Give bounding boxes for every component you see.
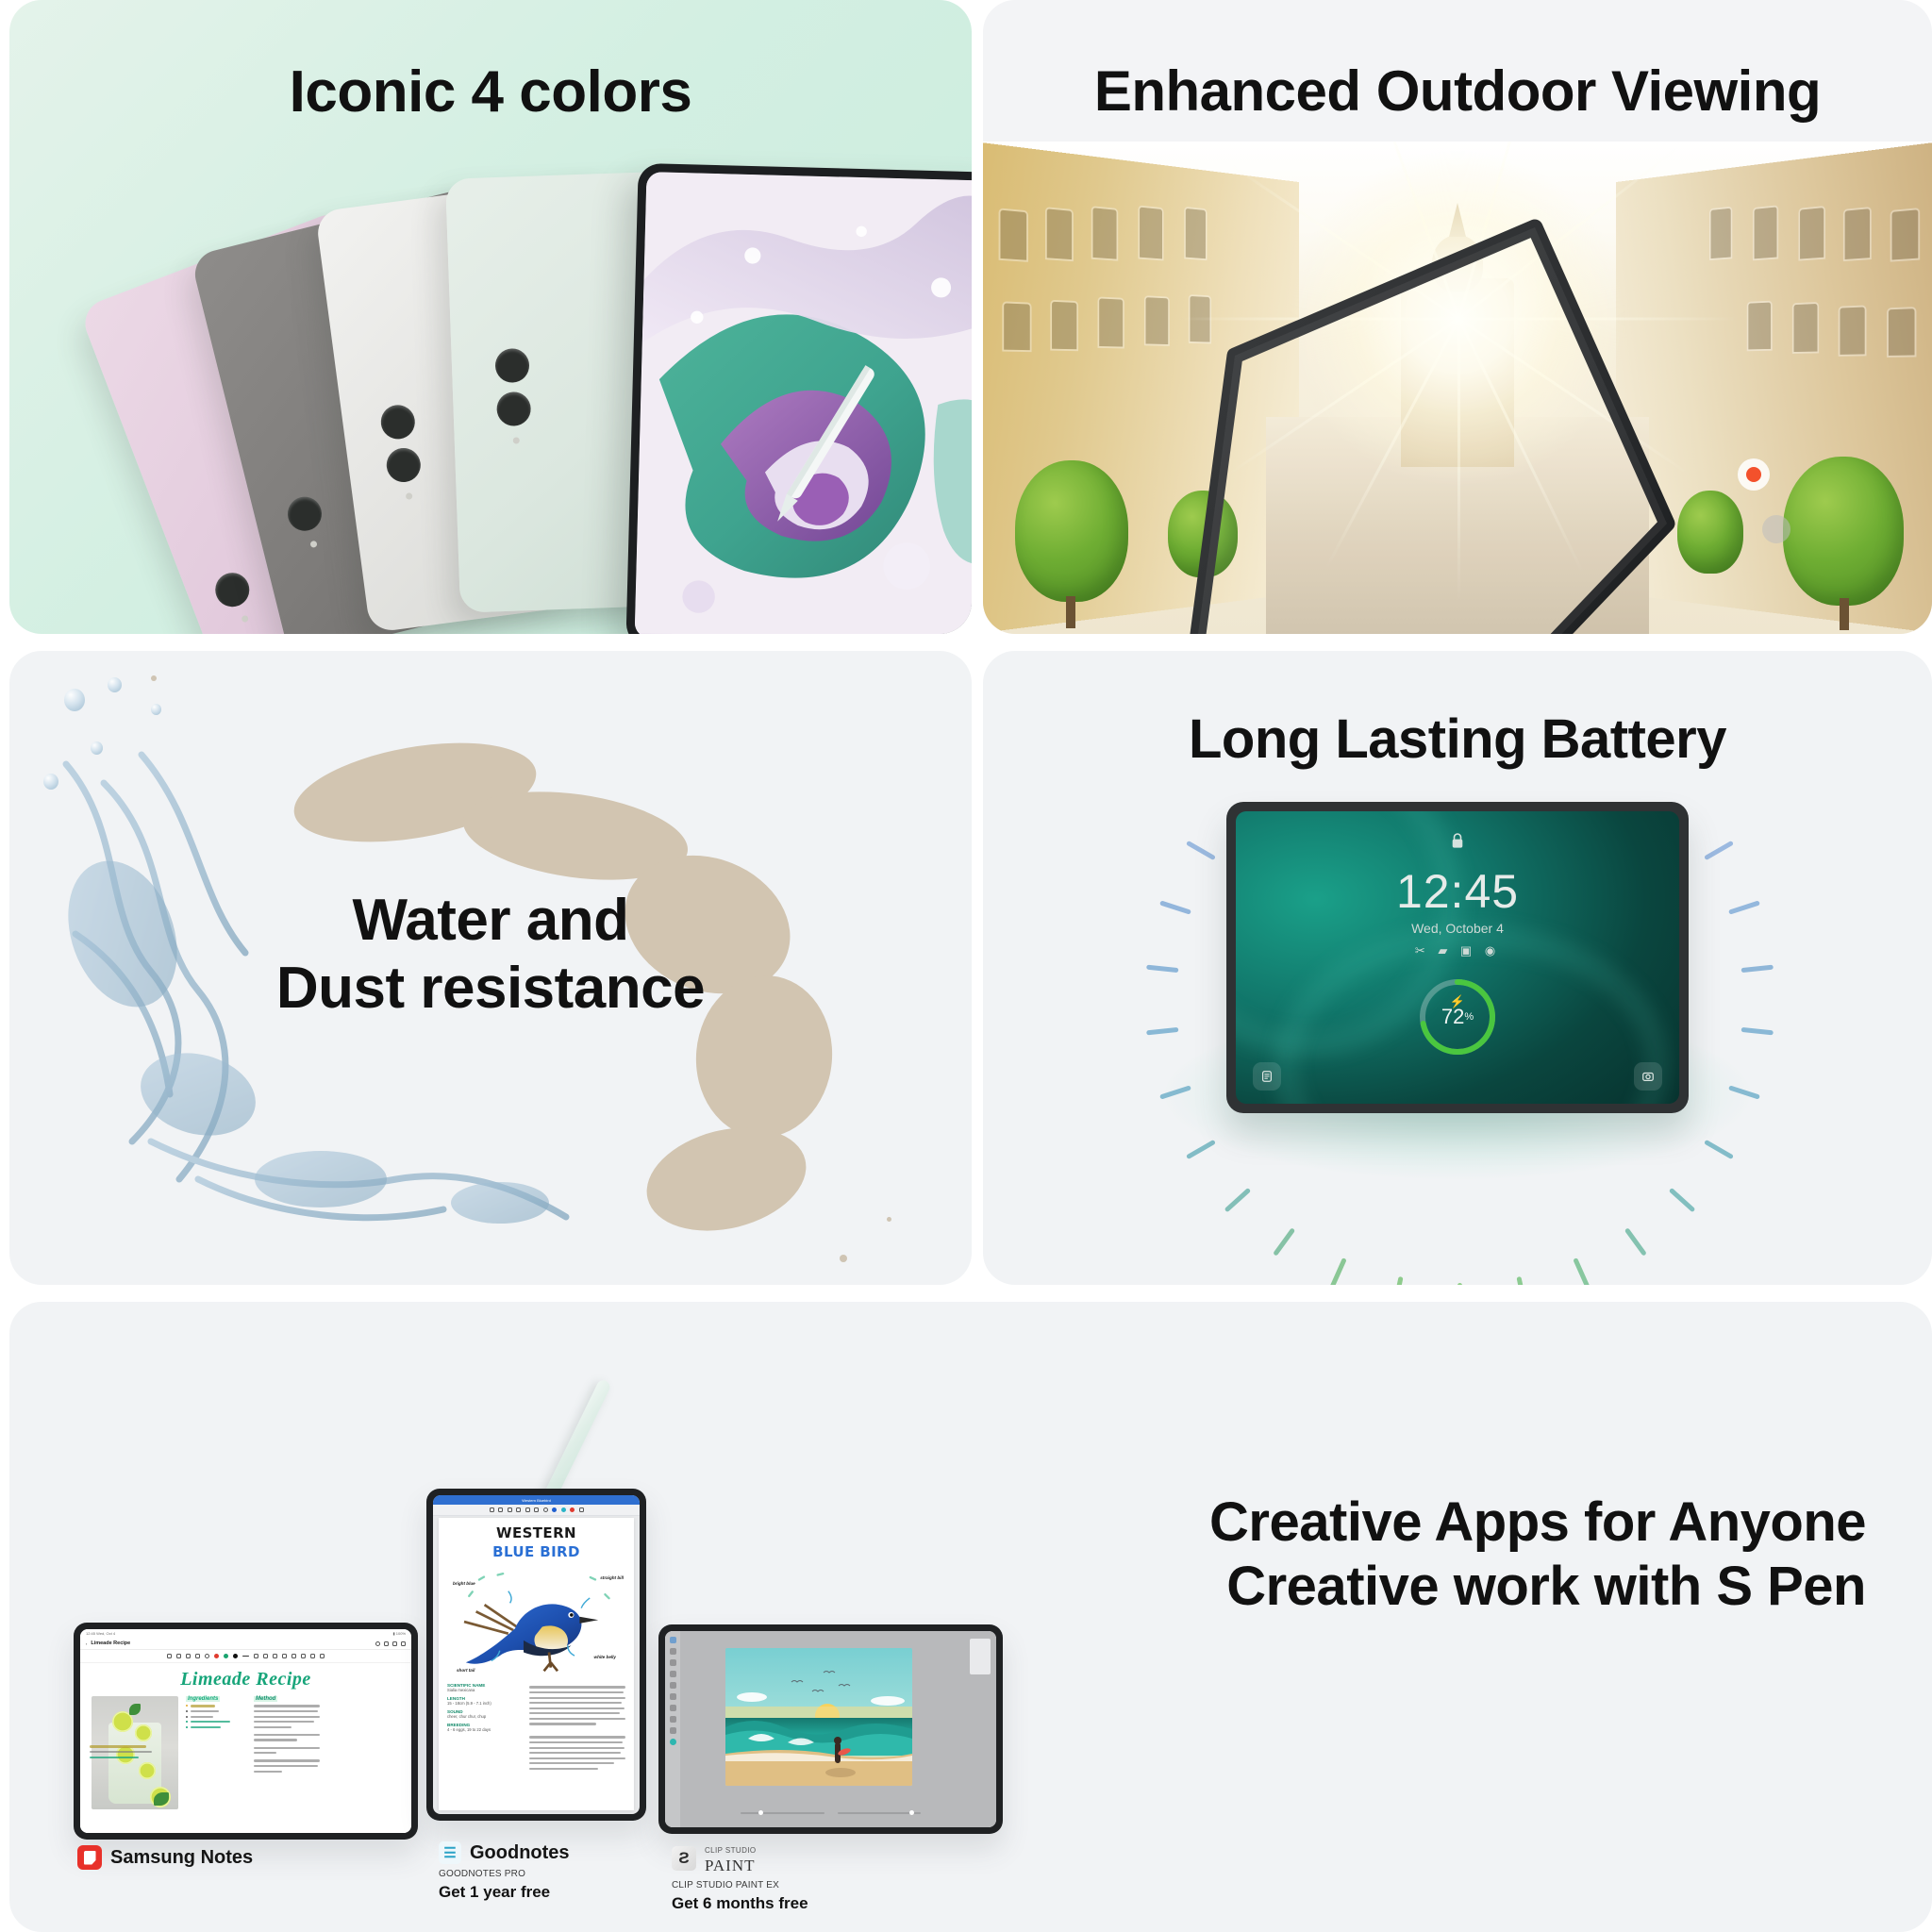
flash-icon: [406, 492, 413, 500]
panel-water-dust-resistance: Water and Dust resistance: [9, 651, 972, 1285]
handwritten-annotation: [90, 1742, 159, 1761]
street-tree: [1677, 491, 1743, 574]
annotation-straight-bill: straight bill: [600, 1575, 624, 1580]
lockscreen-quick-icons[interactable]: ✂ ▰ ▣ ◉: [1236, 943, 1679, 958]
camera-icon: [379, 403, 417, 441]
bird-title-line2: BLUE BIRD: [447, 1543, 625, 1560]
app-name-small: CLIP STUDIO: [705, 1846, 757, 1855]
bird-facts-section: SCIENTIFIC NAME Sialia mexicana LENGTH 1…: [447, 1683, 625, 1773]
panel-iconic-colors: Iconic 4 colors: [9, 0, 972, 634]
ingredients-heading: Ingredients: [186, 1696, 220, 1702]
water-title-line2: Dust resistance: [276, 956, 705, 1021]
goodnotes-toolbar[interactable]: [433, 1505, 640, 1516]
tablet-outline-overlay: [1176, 212, 1686, 634]
device-samsung-notes: 12:45 Wed, Oct 4 ▮ 100% ‹ Limeade Recipe: [74, 1623, 418, 1840]
bird-title-line1: WESTERN: [447, 1524, 625, 1541]
panel-long-lasting-battery: Long Lasting Battery: [983, 651, 1932, 1285]
apps-title-line1: Creative Apps for Anyone: [1209, 1491, 1866, 1553]
bird-facts-list: SCIENTIFIC NAME Sialia mexicana LENGTH 1…: [447, 1683, 523, 1773]
samsung-notes-icon: [77, 1845, 102, 1870]
flash-icon: [309, 541, 317, 548]
camera-icon-secondary: [385, 446, 423, 484]
dust-particle: [151, 675, 157, 681]
brush-size-slider[interactable]: [741, 1812, 824, 1814]
panel-outdoor-viewing: Enhanced Outdoor Viewing: [983, 0, 1932, 634]
app-name: Goodnotes: [470, 1842, 570, 1864]
fanned-tablets-group: [123, 142, 972, 634]
lockscreen-shortcut-notes[interactable]: [1253, 1062, 1281, 1091]
clip-studio-tool-rail[interactable]: [665, 1631, 680, 1827]
beach-artwork-canvas: [725, 1648, 912, 1786]
water-droplet: [43, 774, 58, 790]
clip-studio-layer-panel[interactable]: [970, 1639, 991, 1674]
goodnotes-icon: ☰: [439, 1841, 461, 1864]
tablet-lockscreen-device: 12:45 Wed, October 4 ✂ ▰ ▣ ◉ ⚡ 72%: [1226, 802, 1689, 1113]
street-tree: [1783, 457, 1904, 606]
notes-document-body: Limeade Recipe Ingredients: [80, 1663, 411, 1833]
s-pen-stylus: [750, 344, 897, 556]
notes-pen-toolbar[interactable]: [80, 1650, 411, 1663]
samsung-notes-screen: 12:45 Wed, Oct 4 ▮ 100% ‹ Limeade Recipe: [80, 1629, 411, 1833]
bluebird-illustration: bright blue straight bill white belly sh…: [447, 1566, 625, 1679]
bird-description-paragraphs: [529, 1683, 625, 1773]
notes-col-method: Method: [254, 1696, 322, 1809]
device-clip-studio-paint: [658, 1624, 1003, 1834]
panel-title-iconic-colors: Iconic 4 colors: [9, 58, 972, 125]
clip-studio-workspace: [665, 1631, 996, 1827]
panel-title-creative-apps: Creative Apps for Anyone Creative work w…: [1209, 1491, 1866, 1620]
camera-icon: [210, 568, 255, 612]
lock-icon: [1451, 832, 1465, 849]
panel-title-water-dust: Water and Dust resistance: [9, 887, 972, 1023]
tablet-screen-artwork: [635, 172, 972, 634]
panel-title-battery: Long Lasting Battery: [983, 708, 1932, 771]
app-subtitle: CLIP STUDIO PAINT EX: [672, 1880, 808, 1890]
app-offer: Get 6 months free: [672, 1894, 808, 1913]
focus-marker-dot[interactable]: [1738, 458, 1770, 491]
battery-progress-ring: ⚡ 72%: [1410, 970, 1505, 1064]
opacity-slider[interactable]: [838, 1812, 922, 1814]
flash-icon: [513, 437, 520, 443]
camera-icon-secondary: [496, 391, 531, 426]
apps-title-line2: Creative work with S Pen: [1226, 1556, 1866, 1617]
app-label-samsung-notes: Samsung Notes: [77, 1845, 253, 1870]
notes-toolbar-right[interactable]: [375, 1641, 406, 1646]
app-label-clip-studio-paint: Ƨ CLIP STUDIO PAINT CLIP STUDIO PAINT EX…: [672, 1841, 808, 1913]
status-left: 12:45 Wed, Oct 4: [86, 1631, 115, 1636]
lockscreen-screen: 12:45 Wed, October 4 ✂ ▰ ▣ ◉ ⚡ 72%: [1236, 811, 1679, 1104]
app-offer: Get 1 year free: [439, 1883, 570, 1902]
fact-value: 4 - 6 eggs, 19 to 22 days: [447, 1727, 523, 1732]
goodnotes-title-bar: Western Bluebird: [433, 1495, 640, 1505]
app-subtitle: GOODNOTES PRO: [439, 1869, 570, 1879]
clip-studio-sliders[interactable]: [741, 1812, 921, 1814]
water-droplet: [108, 677, 122, 692]
goodnotes-screen: Western Bluebird WESTERN BLUE BIRD: [433, 1495, 640, 1814]
back-icon[interactable]: ‹: [86, 1641, 87, 1646]
annotation-short-tail: short tail: [457, 1668, 475, 1673]
clip-studio-screen: [665, 1631, 996, 1827]
battery-percent-label: 72%: [1410, 970, 1505, 1064]
flash-icon: [241, 614, 249, 623]
tree-trunk: [1840, 598, 1849, 630]
street-tree: [1015, 460, 1128, 602]
tablet-front-display: [625, 163, 972, 634]
camera-icon: [284, 493, 325, 535]
method-heading: Method: [254, 1696, 277, 1702]
annotation-white-belly: white belly: [594, 1655, 617, 1659]
panel-title-outdoor-viewing: Enhanced Outdoor Viewing: [983, 58, 1932, 124]
status-right: ▮ 100%: [392, 1631, 406, 1636]
lockscreen-shortcut-camera[interactable]: [1634, 1062, 1662, 1091]
lockscreen-time: 12:45: [1236, 864, 1679, 919]
notes-navigation-bar: ‹ Limeade Recipe: [80, 1638, 411, 1650]
app-label-goodnotes: ☰ Goodnotes GOODNOTES PRO Get 1 year fre…: [439, 1841, 570, 1902]
tree-trunk: [1066, 596, 1075, 628]
secondary-marker-dot[interactable]: [1762, 515, 1790, 543]
notes-doc-heading: Limeade Recipe: [92, 1669, 400, 1690]
notes-status-bar: 12:45 Wed, Oct 4 ▮ 100%: [80, 1629, 411, 1638]
product-feature-collage: Iconic 4 colors: [0, 0, 1932, 1932]
water-title-line1: Water and: [353, 888, 629, 953]
street-scene-photo: [983, 142, 1932, 634]
app-name: PAINT: [705, 1857, 756, 1874]
water-droplet: [151, 704, 161, 715]
clip-studio-paint-icon: Ƨ: [672, 1846, 696, 1871]
notes-col-ingredients: Ingredients: [186, 1696, 246, 1809]
camera-icon: [494, 348, 529, 383]
water-droplet: [64, 689, 85, 711]
fact-value: cheer, chur chur, chup: [447, 1714, 523, 1719]
goodnotes-doc-name: Western Bluebird: [522, 1498, 551, 1503]
dust-particle: [840, 1255, 847, 1262]
goodnotes-page: WESTERN BLUE BIRD: [439, 1518, 634, 1810]
fact-value: 15 - 18cm (5.9 - 7.1 inch): [447, 1701, 523, 1706]
water-droplet: [91, 741, 103, 755]
dust-particle: [887, 1217, 891, 1222]
notes-document-title: Limeade Recipe: [91, 1641, 130, 1646]
annotation-bright-blue: bright blue: [453, 1581, 475, 1586]
lockscreen-date: Wed, October 4: [1236, 921, 1679, 936]
fact-value: Sialia mexicana: [447, 1688, 523, 1692]
app-name: Samsung Notes: [110, 1847, 253, 1869]
device-goodnotes: Western Bluebird WESTERN BLUE BIRD: [426, 1489, 646, 1821]
